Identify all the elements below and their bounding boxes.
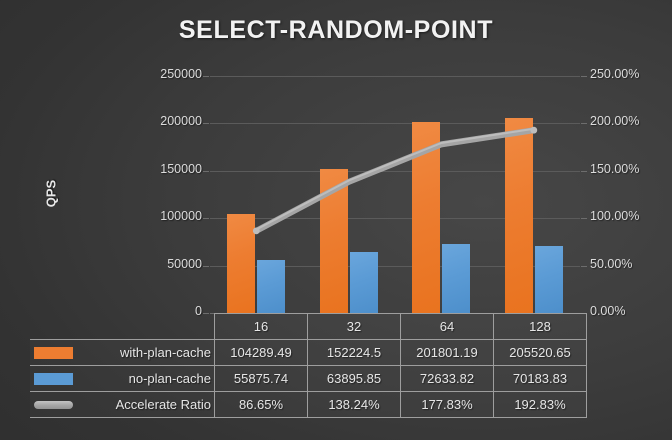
table-cell: 72633.82 (401, 366, 494, 392)
right-axis-tick-label: 150.00% (590, 162, 670, 176)
table-cell: 152224.5 (308, 340, 401, 366)
left-axis-tick-label: 100000 (112, 209, 202, 223)
table-row: Accelerate Ratio86.65%138.24%177.83%192.… (30, 392, 587, 418)
bar-with-plan-cache (320, 169, 348, 313)
bar-with-plan-cache (505, 118, 533, 313)
table-cell: 86.65% (215, 392, 308, 418)
right-axis-tick-label: 0.00% (590, 304, 670, 318)
left-axis-tick (203, 218, 209, 219)
table-row: no-plan-cache55875.7463895.8572633.82701… (30, 366, 587, 392)
table-column-header: 16 (215, 314, 308, 340)
table-cell: 63895.85 (308, 366, 401, 392)
series-label: with-plan-cache (74, 345, 211, 360)
right-axis-tick (581, 76, 587, 77)
table-column-header: 128 (494, 314, 587, 340)
left-axis-tick-label: 250000 (112, 67, 202, 81)
blue-bar-swatch-icon (34, 373, 73, 385)
gray-line-swatch-icon (34, 401, 73, 409)
table-cell: 201801.19 (401, 340, 494, 366)
left-axis-tick (203, 123, 209, 124)
table-cell: 205520.65 (494, 340, 587, 366)
table-cell: 138.24% (308, 392, 401, 418)
right-axis-tick-label: 50.00% (590, 257, 670, 271)
table-corner-cell (30, 314, 215, 340)
right-axis-tick (581, 171, 587, 172)
bar-no-plan-cache (442, 244, 470, 313)
chart-container: SELECT-RANDOM-POINT QPS 2500002000001500… (0, 0, 672, 440)
table-cell: 192.83% (494, 392, 587, 418)
right-axis-tick-label: 100.00% (590, 209, 670, 223)
table-legend-cell: no-plan-cache (30, 366, 215, 392)
table-cell: 177.83% (401, 392, 494, 418)
table-cell: 104289.49 (215, 340, 308, 366)
right-axis-tick-labels: 250.00%200.00%150.00%100.00%50.00%0.00% (590, 76, 670, 313)
y-axis-title: QPS (44, 164, 59, 224)
series-label: no-plan-cache (74, 371, 211, 386)
chart-title: SELECT-RANDOM-POINT (0, 16, 672, 45)
left-axis-tick (203, 171, 209, 172)
right-axis-tick-label: 200.00% (590, 114, 670, 128)
bar-with-plan-cache (412, 122, 440, 313)
table-cell: 70183.83 (494, 366, 587, 392)
table-header-row: 163264128 (30, 314, 587, 340)
bar-no-plan-cache (257, 260, 285, 313)
table-column-header: 32 (308, 314, 401, 340)
right-axis-tick (581, 123, 587, 124)
data-table: 163264128with-plan-cache104289.49152224.… (30, 313, 587, 418)
series-label: Accelerate Ratio (74, 397, 211, 412)
orange-bar-swatch-icon (34, 347, 73, 359)
table-row: with-plan-cache104289.49152224.5201801.1… (30, 340, 587, 366)
ratio-line-path (256, 130, 534, 231)
left-axis-tick (203, 266, 209, 267)
bar-no-plan-cache (535, 246, 563, 313)
left-axis-tick-labels: 250000200000150000100000500000 (110, 76, 202, 313)
ratio-line-highlight (256, 129, 534, 230)
bar-no-plan-cache (350, 252, 378, 313)
table-legend-cell: with-plan-cache (30, 340, 215, 366)
right-axis-tick-label: 250.00% (590, 67, 670, 81)
gridline (210, 76, 580, 77)
left-axis-tick-label: 50000 (112, 257, 202, 271)
left-axis-tick (203, 76, 209, 77)
table-cell: 55875.74 (215, 366, 308, 392)
table-column-header: 64 (401, 314, 494, 340)
right-axis-tick (581, 266, 587, 267)
plot-area (210, 76, 580, 313)
table-legend-cell: Accelerate Ratio (30, 392, 215, 418)
left-axis-tick-label: 150000 (112, 162, 202, 176)
right-axis-tick (581, 218, 587, 219)
bar-with-plan-cache (227, 214, 255, 313)
left-axis-tick-label: 200000 (112, 114, 202, 128)
